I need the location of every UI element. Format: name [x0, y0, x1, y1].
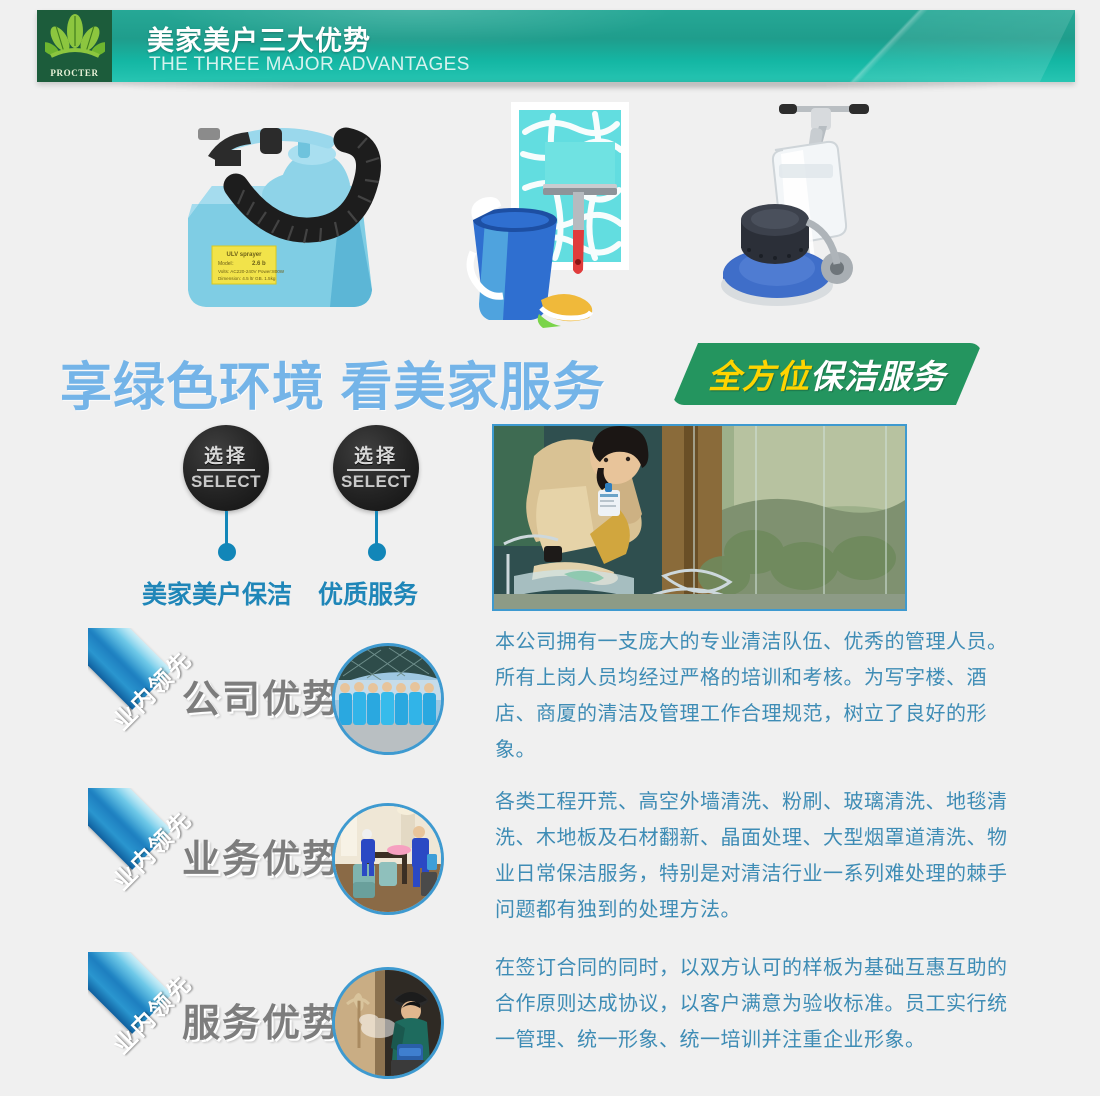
- select-pin-1[interactable]: 选择 SELECT: [183, 425, 269, 511]
- indoor-cleaning-art: [335, 806, 441, 912]
- all-round-service-badge: 全方位 保洁服务: [672, 343, 982, 405]
- banner-title-cn: 美家美户三大优势: [147, 19, 371, 58]
- select-circle-cn: 选择: [354, 447, 398, 466]
- indoor-cleaning-photo: [332, 803, 444, 915]
- leaves-icon: [45, 14, 105, 66]
- select-circle-en: SELECT: [191, 473, 261, 490]
- svg-text:ULV sprayer: ULV sprayer: [227, 252, 263, 258]
- badge-label-yellow: 全方位: [708, 350, 810, 398]
- svg-text:Dimension: 4.5 ltr GB. 1.5: Dimension: 4.5 ltr GB. 1.5kg: [218, 276, 276, 281]
- ulv-sprayer-image: ULV sprayer Model： 2.6 b Volts: AC220-24…: [160, 100, 420, 335]
- page-root: PROCTER 美家美户三大优势 THE THREE MAJOR ADVANTA…: [0, 0, 1100, 1096]
- select-pin-2[interactable]: 选择 SELECT: [333, 425, 419, 511]
- banner-title-en: THE THREE MAJOR ADVANTAGES: [149, 54, 470, 76]
- advantage-description: 各类工程开荒、高空外墙清洗、粉刷、玻璃清洗、地毯清洗、木地板及石材翻新、晶面处理…: [495, 784, 1015, 928]
- select-circle[interactable]: 选择 SELECT: [183, 425, 269, 511]
- advantage-title: 业务优势: [182, 828, 342, 883]
- floor-polisher-image: [715, 92, 915, 332]
- company-logo: PROCTER: [37, 10, 112, 82]
- select-circle[interactable]: 选择 SELECT: [333, 425, 419, 511]
- advantage-title: 公司优势: [182, 668, 342, 723]
- select-pin-1-label: 美家美户保洁: [142, 575, 292, 611]
- pin-dot: [218, 543, 236, 561]
- select-divider: [197, 469, 255, 471]
- logo-text: PROCTER: [50, 68, 98, 78]
- staff-lineup-art: [335, 646, 441, 752]
- badge-label-white: 保洁服务: [810, 350, 946, 398]
- advantage-row-company: 业内领先 公司优势: [0, 628, 1100, 768]
- advantage-description: 本公司拥有一支庞大的专业清洁队伍、优秀的管理人员。所有上岗人员均经过严格的培训和…: [495, 624, 1015, 768]
- banner-diagonal-shine: [720, 10, 1075, 82]
- svg-text:Volts: AC220-240V Power:800W: Volts: AC220-240V Power:800W: [218, 269, 285, 274]
- select-pin-2-label: 优质服务: [318, 575, 418, 611]
- select-circle-cn: 选择: [204, 447, 248, 466]
- select-divider: [347, 469, 405, 471]
- svg-text:Model：: Model：: [218, 261, 237, 267]
- header-banner: PROCTER 美家美户三大优势 THE THREE MAJOR ADVANTA…: [37, 10, 1075, 82]
- badge-label: 全方位 保洁服务: [672, 343, 982, 405]
- staff-lineup-photo: [332, 643, 444, 755]
- wall-spraying-art: [335, 970, 441, 1076]
- advantage-title: 服务优势: [182, 992, 342, 1047]
- hero-photo-art: [494, 426, 905, 609]
- wall-spraying-photo: [332, 967, 444, 1079]
- window-cleaning-image: [455, 92, 685, 332]
- page-headline: 享绿色环境 看美家服务: [60, 345, 605, 420]
- advantage-row-service: 业内领先 服务优势: [0, 952, 1100, 1092]
- advantage-description: 在签订合同的同时，以双方认可的样板为基础互惠互助的合作原则达成协议，以客户满意为…: [495, 950, 1015, 1058]
- product-image-row: ULV sprayer Model： 2.6 b Volts: AC220-24…: [0, 92, 1100, 342]
- cleaner-wiping-glass-table-photo: [492, 424, 907, 611]
- banner-dropshadow: [120, 82, 1000, 89]
- svg-text:2.6 b: 2.6 b: [252, 261, 266, 267]
- advantage-row-business: 业内领先 业务优势: [0, 788, 1100, 938]
- pin-dot: [368, 543, 386, 561]
- select-circle-en: SELECT: [341, 473, 411, 490]
